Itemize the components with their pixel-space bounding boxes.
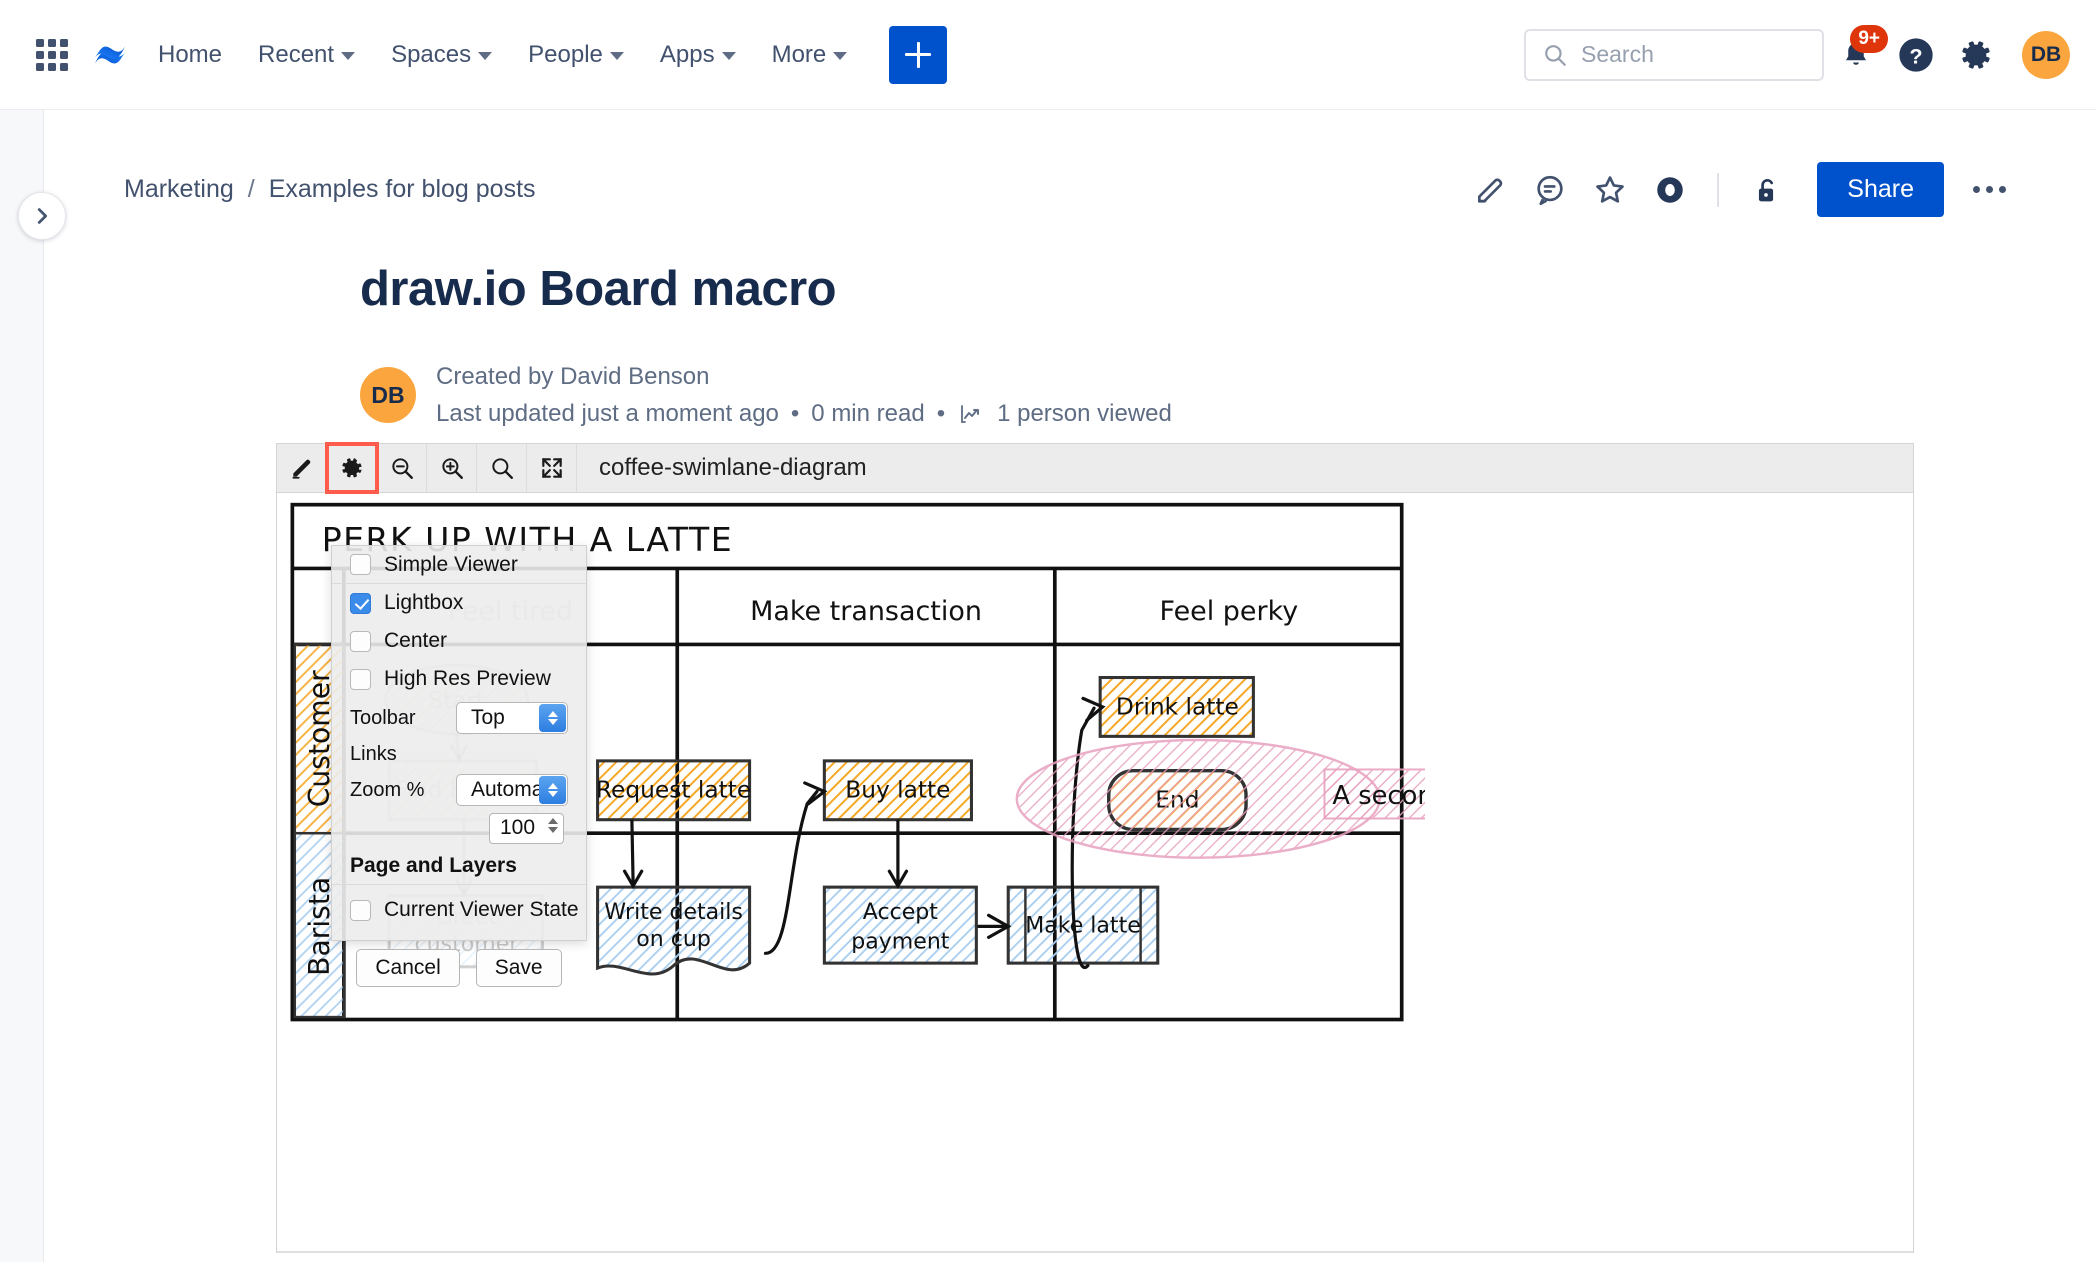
create-button[interactable] — [889, 26, 947, 84]
phase-label-make-transaction: Make transaction — [750, 596, 982, 627]
settings-button[interactable] — [1948, 27, 2004, 83]
select-stepper-icon — [539, 704, 566, 732]
notifications-button[interactable]: 9+ — [1828, 27, 1884, 83]
chevron-down-icon — [833, 52, 847, 60]
breadcrumb-parent-page[interactable]: Examples for blog posts — [269, 175, 536, 204]
phase-label-feel-perky: Feel perky — [1160, 596, 1299, 627]
zoom-out-icon — [389, 455, 415, 481]
comment-icon — [1533, 173, 1567, 207]
links-setting-row: Links — [332, 738, 586, 770]
option-label: Center — [384, 629, 447, 653]
unlock-icon — [1749, 173, 1783, 207]
chevron-down-icon — [610, 52, 624, 60]
diagram-settings-popup[interactable]: Simple Viewer Lightbox Center High Res P… — [331, 545, 587, 941]
pencil-icon — [1473, 173, 1507, 207]
zoom-number-row: 100 — [332, 810, 586, 846]
zoom-mode-select[interactable]: Automatic — [456, 774, 568, 806]
breadcrumb: Marketing / Examples for blog posts — [124, 175, 536, 204]
option-current-viewer-state[interactable]: Current Viewer State — [332, 891, 586, 929]
author-avatar[interactable]: DB — [360, 367, 416, 423]
nav-item-label: Home — [158, 41, 222, 69]
diagram-filename: coffee-swimlane-diagram — [577, 454, 867, 482]
nav-item-label: Apps — [660, 41, 715, 69]
help-button[interactable]: ? — [1888, 27, 1944, 83]
nav-item-label: Spaces — [391, 41, 471, 69]
svg-text:Request latte: Request latte — [596, 777, 751, 804]
page-restrictions-button[interactable] — [1739, 163, 1793, 217]
search-input[interactable]: Search — [1524, 29, 1824, 81]
magnifier-icon — [489, 455, 515, 481]
chevron-right-icon — [31, 205, 53, 227]
meta-separator: • — [791, 400, 799, 428]
gear-icon — [338, 455, 365, 482]
byline-lines: Created by David Benson Last updated jus… — [436, 363, 1172, 428]
center-checkbox[interactable] — [350, 631, 371, 652]
popup-button-row: Cancel Save — [332, 929, 586, 987]
page-byline: DB Created by David Benson Last updated … — [44, 317, 2096, 428]
svg-text:?: ? — [1909, 43, 1922, 68]
fullscreen-icon — [539, 455, 565, 481]
page-content: Marketing / Examples for blog posts — [44, 110, 2096, 1262]
page-actions: Share — [1463, 162, 2016, 217]
last-updated-text: Last updated just a moment ago — [436, 400, 779, 428]
views-count-text[interactable]: 1 person viewed — [997, 400, 1172, 428]
node-drink-latte[interactable]: Drink latte — [1100, 678, 1253, 737]
node-make-latte[interactable]: Make latte — [1008, 887, 1158, 963]
eye-icon — [1653, 173, 1687, 207]
node-request-latte[interactable]: Request latte — [596, 761, 751, 820]
zoom-in-button[interactable] — [427, 444, 477, 492]
node-accept-payment[interactable]: Accept payment — [824, 887, 976, 963]
meta-separator: • — [937, 400, 945, 428]
star-icon — [1593, 173, 1627, 207]
zoom-reset-button[interactable] — [477, 444, 527, 492]
lightbox-checkbox[interactable] — [350, 593, 371, 614]
gear-icon — [1958, 37, 1994, 73]
confluence-logo-icon[interactable] — [82, 29, 138, 81]
svg-text:A second?: A second? — [1332, 781, 1425, 811]
nav-right-group: Search 9+ ? DB — [1524, 27, 2070, 83]
nav-left-group: Home Recent Spaces People Apps More — [26, 26, 947, 84]
user-avatar[interactable]: DB — [2022, 31, 2070, 79]
watch-page-button[interactable] — [1643, 163, 1697, 217]
zoom-percent-input[interactable]: 100 — [489, 813, 564, 844]
current-viewer-state-checkbox[interactable] — [350, 900, 371, 921]
more-options-icon — [1973, 186, 2006, 193]
search-icon — [1542, 42, 1568, 68]
option-label: High Res Preview — [384, 667, 551, 691]
node-buy-latte[interactable]: Buy latte — [824, 761, 971, 820]
svg-text:Accept: Accept — [863, 900, 938, 925]
toolbar-position-value: Top — [471, 706, 505, 730]
svg-text:Write details: Write details — [604, 900, 743, 925]
diagram-settings-button[interactable] — [327, 444, 377, 492]
more-options-button[interactable] — [1962, 163, 2016, 217]
app-switcher-icon[interactable] — [26, 29, 78, 81]
toolbar-setting-label: Toolbar — [350, 707, 446, 730]
svg-text:Drink latte: Drink latte — [1116, 693, 1239, 720]
save-button[interactable]: Save — [476, 949, 562, 987]
zoom-out-button[interactable] — [377, 444, 427, 492]
high-res-preview-checkbox[interactable] — [350, 669, 371, 690]
nav-item-recent[interactable]: Recent — [242, 31, 371, 79]
zoom-setting-row: Zoom % Automatic — [332, 770, 586, 810]
zoom-percent-value: 100 — [500, 816, 535, 840]
option-high-res-preview[interactable]: High Res Preview — [332, 660, 586, 698]
links-setting-label: Links — [350, 743, 446, 766]
search-placeholder: Search — [1581, 41, 1654, 68]
share-button[interactable]: Share — [1817, 162, 1944, 217]
cancel-button[interactable]: Cancel — [356, 949, 459, 987]
zoom-setting-label: Zoom % — [350, 779, 446, 802]
read-time-text: 0 min read — [811, 400, 924, 428]
option-label: Current Viewer State — [384, 898, 579, 922]
created-by-text: Created by David Benson — [436, 363, 1172, 391]
option-label: Lightbox — [384, 591, 463, 615]
option-simple-viewer[interactable]: Simple Viewer — [332, 546, 586, 584]
page-header-row: Marketing / Examples for blog posts — [44, 110, 2096, 217]
nav-item-label: Recent — [258, 41, 334, 69]
page-title: draw.io Board macro — [44, 217, 2096, 317]
zoom-in-icon — [439, 455, 465, 481]
nav-item-label: People — [528, 41, 603, 69]
star-page-button[interactable] — [1583, 163, 1637, 217]
option-center[interactable]: Center — [332, 622, 586, 660]
nav-item-spaces[interactable]: Spaces — [375, 31, 508, 79]
svg-text:Make latte: Make latte — [1025, 913, 1141, 938]
svg-text:Buy latte: Buy latte — [845, 777, 950, 804]
edit-diagram-button[interactable] — [277, 444, 327, 492]
analytics-icon — [957, 402, 985, 426]
byline-meta: Last updated just a moment ago • 0 min r… — [436, 400, 1172, 428]
simple-viewer-checkbox[interactable] — [350, 554, 371, 575]
drawio-macro: coffee-swimlane-diagram — [276, 443, 1914, 1253]
node-write-details-on-cup[interactable]: Write details on cup — [598, 887, 750, 974]
comment-button[interactable] — [1523, 163, 1577, 217]
nav-item-label: More — [772, 41, 827, 69]
global-navigation-bar: Home Recent Spaces People Apps More — [0, 0, 2096, 110]
edit-page-button[interactable] — [1463, 163, 1517, 217]
chevron-down-icon — [722, 52, 736, 60]
breadcrumb-space[interactable]: Marketing — [124, 175, 234, 204]
chevron-down-icon — [478, 52, 492, 60]
option-label: Simple Viewer — [384, 553, 518, 577]
chevron-down-icon — [341, 52, 355, 60]
number-stepper-icon[interactable] — [548, 818, 558, 833]
toolbar-position-select[interactable]: Top — [456, 702, 568, 734]
nav-item-apps[interactable]: Apps — [644, 31, 752, 79]
drawio-toolbar: coffee-swimlane-diagram — [276, 443, 1914, 493]
select-stepper-icon — [539, 776, 566, 804]
help-icon: ? — [1896, 35, 1936, 75]
sidebar-rail — [0, 110, 44, 1262]
actions-divider — [1717, 173, 1719, 207]
page-and-layers-heading: Page and Layers — [332, 846, 586, 885]
expand-sidebar-button[interactable] — [18, 192, 66, 240]
svg-text:payment: payment — [851, 929, 950, 954]
toolbar-setting-row: Toolbar Top — [332, 698, 586, 738]
notification-badge: 9+ — [1850, 25, 1888, 53]
nav-item-people[interactable]: People — [512, 31, 640, 79]
svg-text:on cup: on cup — [636, 927, 711, 952]
diagram-canvas[interactable]: PERK UP WITH A LATTE Feel tired Make tra… — [276, 493, 1914, 1253]
annotation-a-second[interactable]: A second? — [1017, 740, 1425, 858]
option-lightbox[interactable]: Lightbox — [332, 584, 586, 622]
breadcrumb-separator: / — [248, 175, 255, 204]
nav-item-more[interactable]: More — [756, 31, 864, 79]
canvas-bottom-divider — [277, 1251, 1913, 1253]
pencil-icon — [289, 455, 315, 481]
fullscreen-button[interactable] — [527, 444, 577, 492]
nav-item-home[interactable]: Home — [142, 31, 238, 79]
